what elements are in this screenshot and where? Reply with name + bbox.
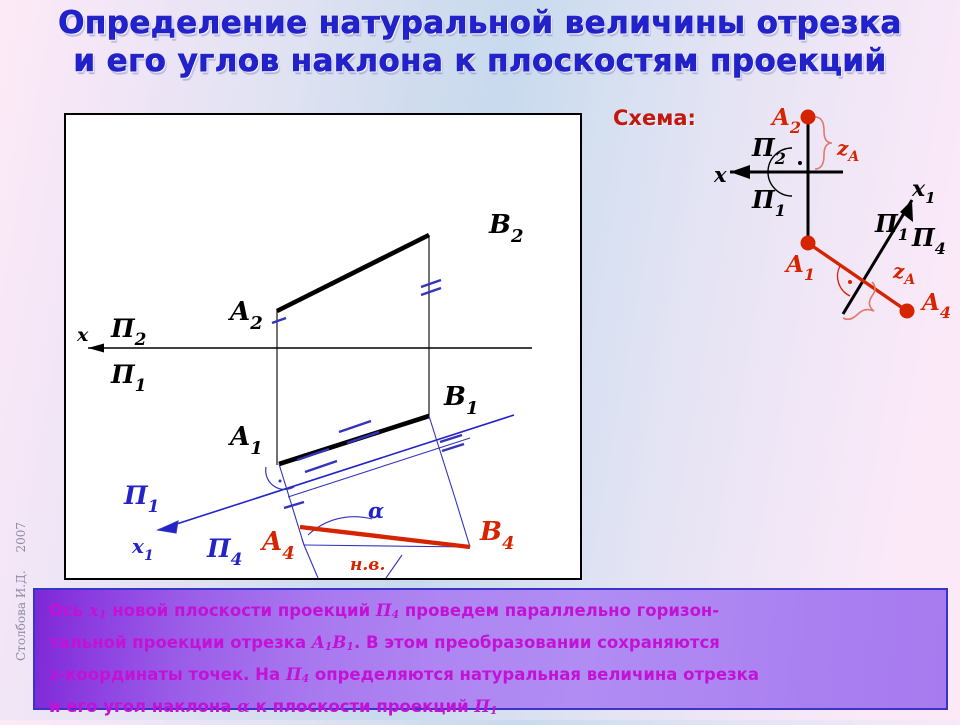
tick-z-upper-2 [421, 288, 441, 295]
label-b2: B2 [488, 210, 524, 247]
projection-connectors [277, 235, 429, 465]
label-b1: B1 [443, 382, 479, 419]
scheme-label-p4: П4 [911, 223, 946, 258]
scheme-label-za-upper: zA [836, 136, 859, 165]
tick-a2 [272, 318, 286, 323]
note-line-2: тальной проекции отрезка A1B1. В этом пр… [49, 629, 934, 661]
label-alpha: α [368, 498, 384, 523]
label-p1-lower: П1 [123, 481, 159, 517]
label-b4: B4 [479, 517, 515, 554]
label-nv: н.в. [350, 555, 385, 575]
scheme-point-a2 [801, 110, 816, 125]
scheme-label-x: x [713, 162, 727, 187]
scheme-x-axis [730, 165, 843, 179]
ground-line-group [88, 344, 532, 353]
scheme-point-a1 [801, 236, 816, 251]
main-drawing-svg: B2 A2 B1 A1 A4 B4 н.в. x П2 П1 П1 [66, 115, 580, 578]
scheme-label-a4: A4 [920, 289, 951, 322]
scheme-svg: A2 A1 A4 zA zA x П2 П1 П1 П4 x1 [600, 100, 960, 350]
label-a4: A4 [259, 527, 295, 564]
author-credit: Столбова И.Д. 2007 [14, 538, 28, 668]
note-line-3: z-координаты точек. На П4 определяются н… [49, 661, 934, 693]
label-x-axis: x [76, 324, 89, 346]
tick-ab-2 [347, 432, 379, 443]
title-line-1: Определение натуральной величины отрезка [0, 4, 960, 42]
scheme-label-x1: x1 [911, 176, 936, 207]
axis-x1-line [158, 415, 514, 530]
scheme-right-angle-dot-1 [798, 161, 802, 165]
tick-marks [272, 280, 464, 508]
tick-z-upper-1 [421, 280, 441, 287]
tick-ab-1 [339, 421, 371, 432]
scheme-label-a1: A1 [784, 251, 815, 284]
label-a2: A2 [227, 297, 263, 334]
segment-a2-b2 [277, 235, 429, 311]
scheme-label-p2: П2 [751, 133, 786, 168]
label-p1-upper: П1 [110, 360, 146, 396]
label-x1: x1 [131, 534, 154, 564]
scheme-label-za-lower: zA [892, 259, 915, 288]
note-line-4: и его угол наклона α к плоскости проекци… [49, 693, 934, 725]
brace-za-upper [815, 117, 832, 169]
scheme-point-a4 [900, 304, 915, 319]
credit-author: Столбова И.Д. [14, 570, 28, 661]
scheme-right-angle-dot-2 [848, 280, 852, 284]
explanation-note: Ось x1 новой плоскости проекций П4 прове… [33, 588, 948, 710]
segment-a4-b4-true-length [300, 527, 470, 547]
label-p4: П4 [206, 534, 242, 570]
axis-x1-arrow [158, 521, 178, 533]
label-a1: A1 [227, 422, 263, 459]
note-line-1: Ось x1 новой плоскости проекций П4 прове… [49, 597, 934, 629]
tick-ab-4 [305, 461, 337, 472]
scheme-x-arrow [730, 165, 750, 179]
x-axis-arrow [88, 344, 104, 353]
main-drawing-frame: B2 A2 B1 A1 A4 B4 н.в. x П2 П1 П1 [64, 113, 582, 580]
scheme-diagram: A2 A1 A4 zA zA x П2 П1 П1 П4 x1 [600, 100, 960, 350]
label-p2: П2 [110, 314, 147, 350]
title-line-2: и его углов наклона к плоскостям проекци… [0, 42, 960, 80]
page-title: Определение натуральной величины отрезка… [0, 4, 960, 80]
scheme-label-p1-upper: П1 [751, 185, 786, 220]
credit-year: 2007 [14, 522, 28, 553]
tick-a4 [284, 502, 304, 508]
tick-z-lower-2 [442, 444, 464, 451]
